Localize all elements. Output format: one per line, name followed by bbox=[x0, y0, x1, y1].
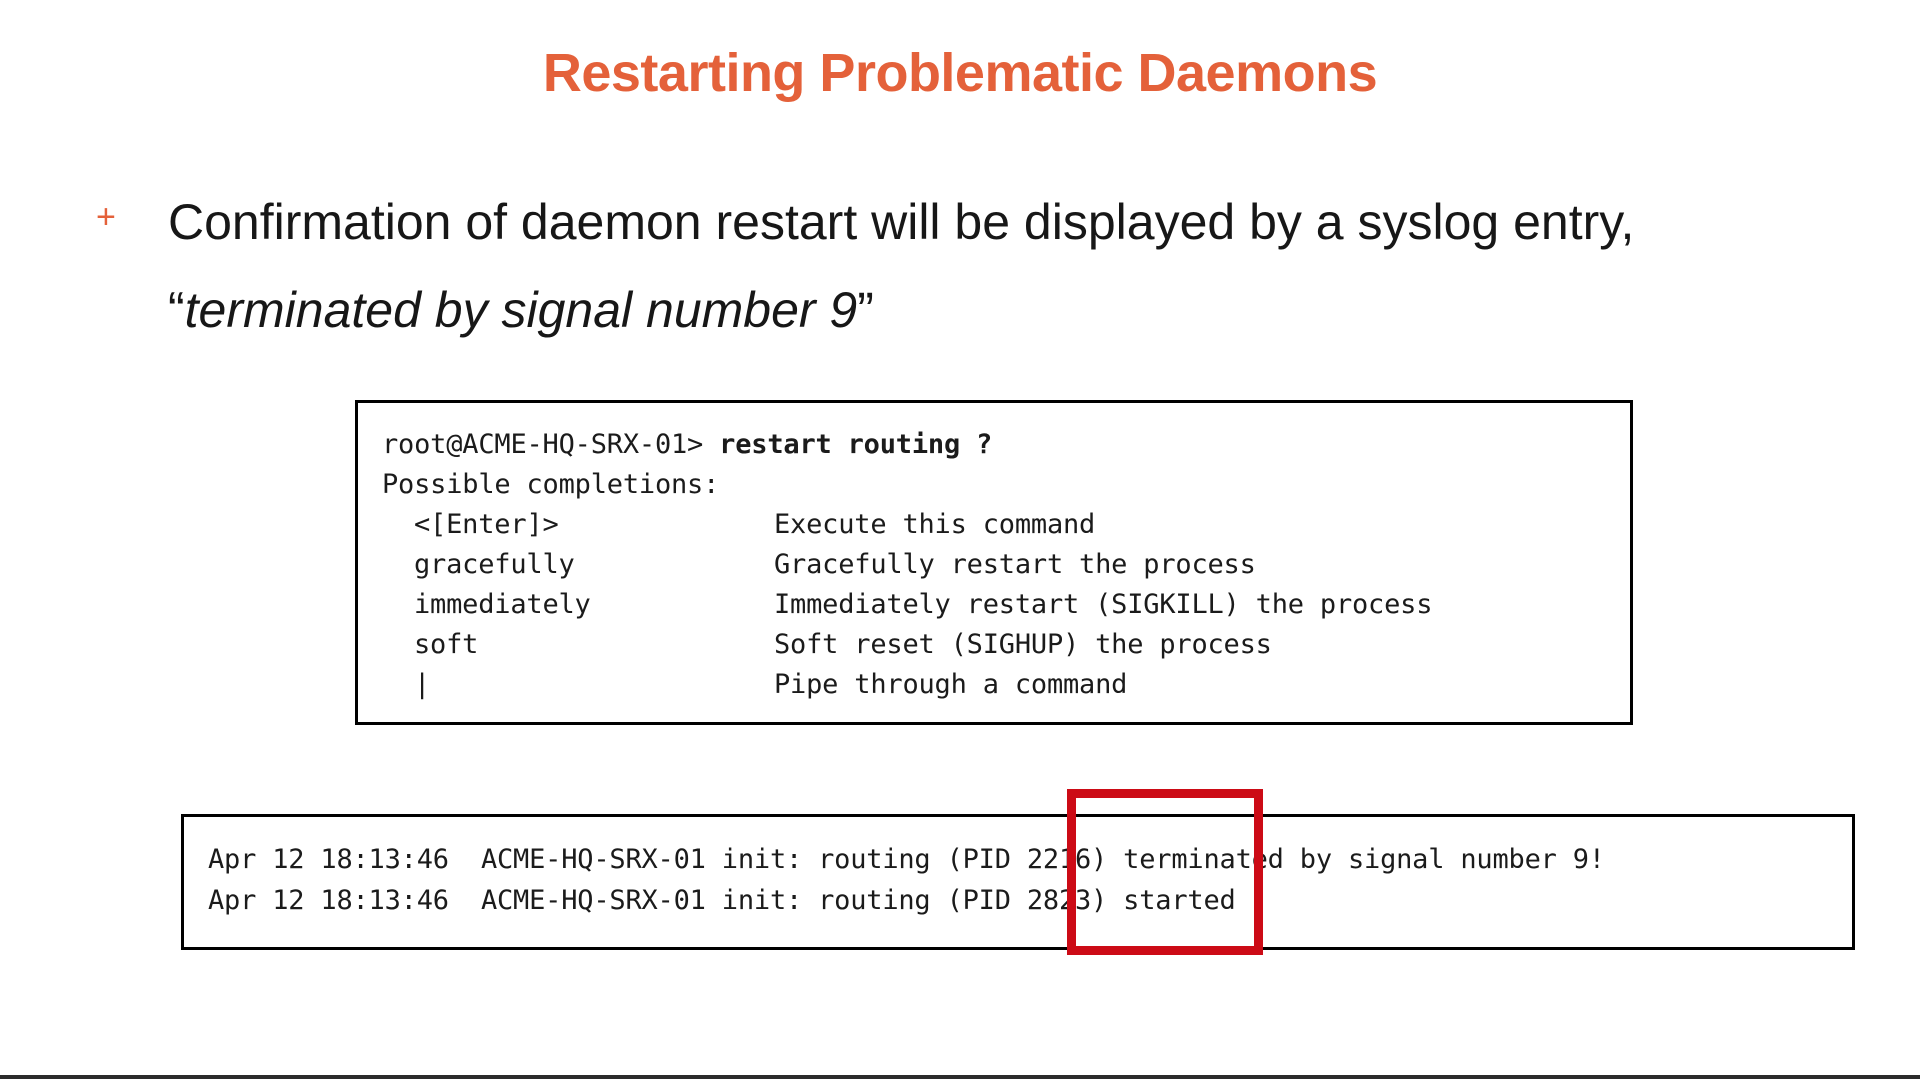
cli-completion-row: | Pipe through a command bbox=[414, 665, 1630, 705]
bullet-text: Confirmation of daemon restart will be d… bbox=[168, 178, 1728, 354]
cli-completion-description: Soft reset (SIGHUP) the process bbox=[774, 625, 1272, 665]
bullet-text-trailing: ” bbox=[857, 282, 874, 338]
syslog-row: Apr 12 18:13:46 ACME-HQ-SRX-01 init: rou… bbox=[208, 839, 1852, 880]
cli-completion-row: gracefully Gracefully restart the proces… bbox=[414, 545, 1630, 585]
bullet-item: + Confirmation of daemon restart will be… bbox=[96, 178, 1816, 354]
syslog-row: Apr 12 18:13:46 ACME-HQ-SRX-01 init: rou… bbox=[208, 880, 1852, 921]
syslog-message: started bbox=[1107, 885, 1235, 916]
cli-completion-option: soft bbox=[414, 625, 774, 665]
cli-completion-row: immediately Immediately restart (SIGKILL… bbox=[414, 585, 1630, 625]
cli-completion-description: Pipe through a command bbox=[774, 665, 1127, 705]
slide-canvas: Restarting Problematic Daemons + Confirm… bbox=[0, 0, 1920, 1080]
cli-completion-option: immediately bbox=[414, 585, 774, 625]
slide-bottom-rule bbox=[0, 1075, 1920, 1079]
syslog-prefix: Apr 12 18:13:46 ACME-HQ-SRX-01 init: rou… bbox=[208, 844, 947, 875]
syslog-prefix: Apr 12 18:13:46 ACME-HQ-SRX-01 init: rou… bbox=[208, 885, 947, 916]
syslog-output-box: Apr 12 18:13:46 ACME-HQ-SRX-01 init: rou… bbox=[181, 814, 1855, 950]
cli-completion-option: | bbox=[414, 665, 774, 705]
plus-bullet-icon: + bbox=[96, 178, 168, 234]
cli-completion-option: <[Enter]> bbox=[414, 505, 774, 545]
cli-help-output-box: root@ACME-HQ-SRX-01> restart routing ? P… bbox=[355, 400, 1633, 725]
cli-prompt-line: root@ACME-HQ-SRX-01> restart routing ? bbox=[382, 425, 1630, 465]
cli-completions-list: <[Enter]> Execute this command gracefull… bbox=[382, 505, 1630, 705]
cli-completion-description: Immediately restart (SIGKILL) the proces… bbox=[774, 585, 1432, 625]
cli-completion-row: soft Soft reset (SIGHUP) the process bbox=[414, 625, 1630, 665]
cli-completion-option: gracefully bbox=[414, 545, 774, 585]
cli-command: restart routing ? bbox=[719, 429, 992, 460]
cli-completion-description: Gracefully restart the process bbox=[774, 545, 1256, 585]
cli-prompt: root@ACME-HQ-SRX-01> bbox=[382, 429, 719, 460]
syslog-message: terminated by signal number 9! bbox=[1107, 844, 1605, 875]
cli-completions-header: Possible completions: bbox=[382, 465, 1630, 505]
bullet-text-emphasis: terminated by signal number 9 bbox=[185, 282, 858, 338]
syslog-pid: (PID 2823) bbox=[947, 885, 1108, 916]
cli-completion-row: <[Enter]> Execute this command bbox=[414, 505, 1630, 545]
page-title: Restarting Problematic Daemons bbox=[0, 44, 1920, 103]
syslog-pid: (PID 2216) bbox=[947, 844, 1108, 875]
cli-completion-description: Execute this command bbox=[774, 505, 1095, 545]
